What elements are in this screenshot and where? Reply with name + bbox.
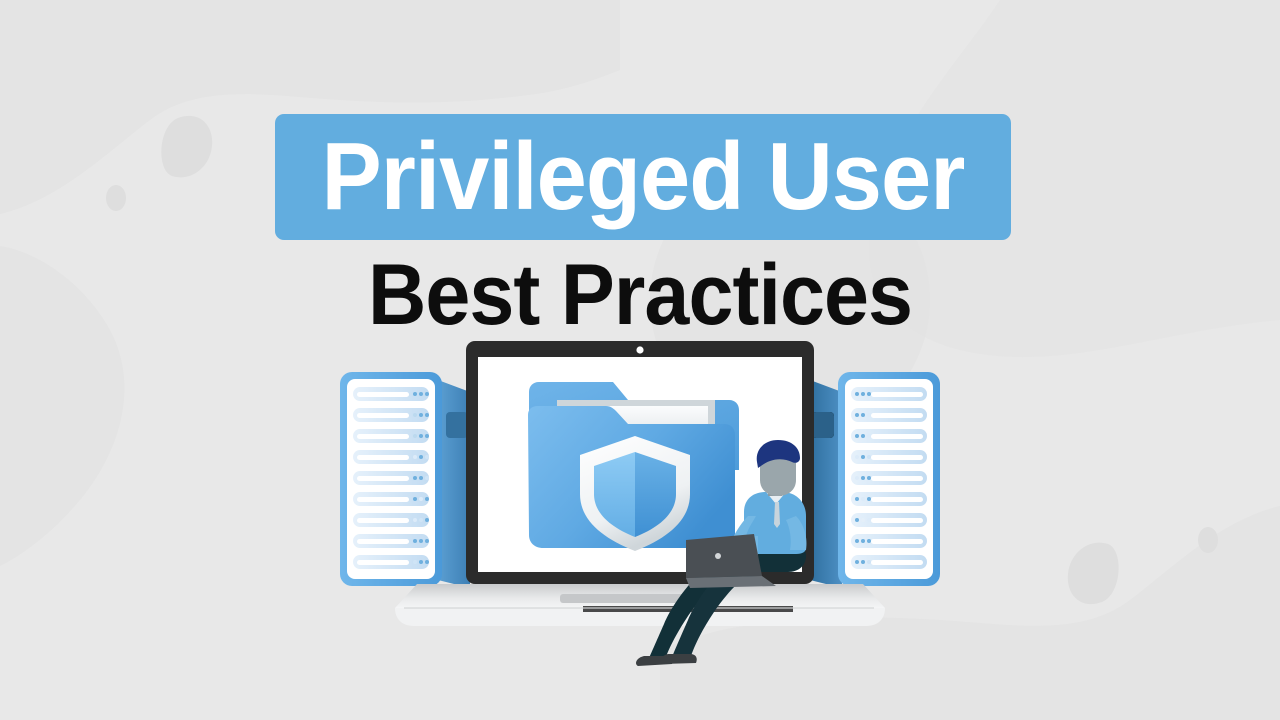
rack-slot [851, 429, 927, 443]
laptop-camera-icon [636, 346, 643, 353]
rack-right-side-panel [810, 380, 842, 588]
title-banner: Privileged User [275, 114, 1011, 240]
rack-slot [353, 429, 429, 443]
rack-slot [353, 408, 429, 422]
person-tie [774, 502, 780, 528]
secure-folder-icon [528, 382, 739, 551]
secure-data-illustration [0, 0, 1280, 720]
slide-canvas: Privileged User Best Practices [0, 0, 1280, 720]
rack-slot [851, 492, 927, 506]
rack-left-slots [353, 387, 429, 569]
rack-left-side-panel [438, 380, 470, 588]
rack-slot [851, 387, 927, 401]
server-rack-right [810, 372, 940, 588]
rack-slot [851, 534, 927, 548]
rack-slot [851, 450, 927, 464]
laptop-base-edge [404, 607, 874, 609]
rack-slot [851, 513, 927, 527]
rack-slot [851, 471, 927, 485]
rack-left-connector [446, 412, 468, 438]
page-title-line1: Privileged User [322, 129, 965, 225]
page-title-line2: Best Practices [38, 249, 1241, 341]
person-shoe-front [660, 654, 697, 664]
rack-slot [851, 408, 927, 422]
rack-slot [353, 513, 429, 527]
rack-right-connector [812, 412, 834, 438]
rack-slot [353, 387, 429, 401]
rack-slot [353, 492, 429, 506]
rack-slot [353, 471, 429, 485]
person-laptop-logo-icon [715, 553, 721, 559]
rack-right-slots [851, 387, 927, 569]
server-rack-left [340, 372, 470, 588]
person-laptop-lid [686, 534, 762, 578]
rack-slot [353, 555, 429, 569]
rack-slot [353, 450, 429, 464]
rack-slot [851, 555, 927, 569]
rack-slot [353, 534, 429, 548]
person-laptop-base [686, 576, 776, 588]
